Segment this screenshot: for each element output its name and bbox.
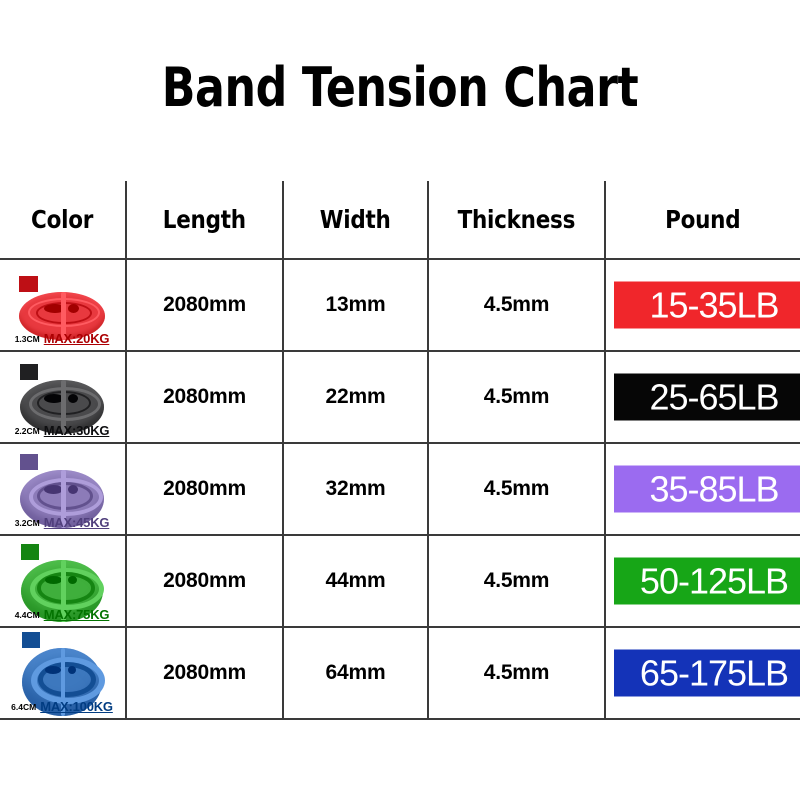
column-header-thickness: Thickness [428,181,605,259]
band-width-cell: 13mm [283,259,428,351]
page-title: Band Tension Chart [72,56,728,120]
table-row: 1.3CMMAX:20KG2080mm13mm4.5mm15-35LB [0,259,800,351]
band-length-cell-value: 2080mm [163,293,246,316]
band-max-kg: MAX:20KG [44,331,110,346]
band-coil-hole [68,666,76,674]
band-tail [22,632,40,648]
table-body: 1.3CMMAX:20KG2080mm13mm4.5mm15-35LB2.2CM… [0,259,800,719]
band-thickness-cell-value: 4.5mm [484,477,550,500]
table-row: 6.4CMMAX:100KG2080mm64mm4.5mm65-175LB [0,627,800,719]
band-thickness-cell: 4.5mm [428,443,605,535]
band-width-cell-value: 44mm [326,569,386,592]
band-coil-image-green [21,544,103,606]
column-header-color-label: Color [31,205,93,234]
band-illustration-wrap: 3.2CMMAX:45KG [0,444,124,534]
band-width-cell: 32mm [283,443,428,535]
band-width-cm: 4.4CM [15,610,40,620]
band-width-cell-value: 32mm [326,477,386,500]
band-length-cell: 2080mm [126,351,283,443]
band-pound-cell: 15-35LB [605,259,800,351]
band-caption: 2.2CMMAX:30KG [0,422,124,440]
band-color-cell: 1.3CMMAX:20KG [0,259,126,351]
table-row: 4.4CMMAX:75KG2080mm44mm4.5mm50-125LB [0,535,800,627]
band-coil-hole [68,576,77,584]
table-header-row: Color Length Width Thickness Pound [0,181,800,259]
band-caption: 4.4CMMAX:75KG [0,606,124,624]
pound-badge-red: 15-35LB [614,282,800,329]
band-coil-hole [68,485,78,494]
band-illustration-wrap: 2.2CMMAX:30KG [0,352,124,442]
band-illustration-wrap: 4.4CMMAX:75KG [0,536,124,626]
band-length-cell-value: 2080mm [163,661,246,684]
band-width-cell: 22mm [283,351,428,443]
pound-badge-green: 50-125LB [614,558,800,605]
band-coil-image-blue [22,632,102,700]
pound-badge-blue: 65-175LB [614,650,800,697]
band-length-cell: 2080mm [126,443,283,535]
band-width-cm: 6.4CM [11,702,36,712]
band-color-cell: 3.2CMMAX:45KG [0,443,126,535]
band-color-cell: 6.4CMMAX:100KG [0,627,126,719]
column-header-thickness-label: Thickness [458,205,576,234]
band-tail [20,364,38,380]
band-thickness-cell: 4.5mm [428,351,605,443]
band-width-cell-value: 22mm [326,385,386,408]
band-coil-image-purple [20,454,104,512]
pound-badge-black: 25-65LB [614,374,800,421]
band-max-kg: MAX:75KG [44,607,110,622]
band-illustration-wrap: 6.4CMMAX:100KG [0,628,124,718]
band-tail [19,276,38,292]
band-tail [20,454,38,470]
band-width-cell: 44mm [283,535,428,627]
band-coil-hole [68,394,78,403]
band-caption: 3.2CMMAX:45KG [0,514,124,532]
band-length-cell: 2080mm [126,627,283,719]
band-thickness-cell: 4.5mm [428,627,605,719]
band-pound-cell: 25-65LB [605,351,800,443]
band-caption: 1.3CMMAX:20KG [0,330,124,348]
band-color-cell: 2.2CMMAX:30KG [0,351,126,443]
band-illustration-wrap: 1.3CMMAX:20KG [0,260,124,350]
band-length-cell: 2080mm [126,535,283,627]
column-header-pound-label: Pound [665,205,740,234]
band-width-cm: 3.2CM [15,518,40,528]
band-pound-cell: 65-175LB [605,627,800,719]
band-thickness-cell: 4.5mm [428,259,605,351]
column-header-pound: Pound [605,181,800,259]
column-header-width-label: Width [320,205,391,234]
band-caption: 6.4CMMAX:100KG [0,698,124,716]
band-tension-table: Color Length Width Thickness Pound 1.3CM… [0,181,800,720]
band-pound-cell: 50-125LB [605,535,800,627]
band-length-cell: 2080mm [126,259,283,351]
band-thickness-cell-value: 4.5mm [484,661,550,684]
band-width-cell-value: 13mm [326,293,386,316]
column-header-color: Color [0,181,126,259]
band-coil-image-red [19,276,105,324]
column-header-width: Width [283,181,428,259]
band-max-kg: MAX:45KG [44,515,110,530]
band-length-cell-value: 2080mm [163,385,246,408]
band-length-cell-value: 2080mm [163,477,246,500]
band-width-cell-value: 64mm [326,661,386,684]
band-max-kg: MAX:100KG [40,699,113,714]
band-color-cell: 4.4CMMAX:75KG [0,535,126,627]
band-width-cm: 2.2CM [15,426,40,436]
band-pound-cell: 35-85LB [605,443,800,535]
column-header-length-label: Length [163,205,246,234]
band-thickness-cell-value: 4.5mm [484,569,550,592]
band-coil-hole [45,576,62,584]
band-width-cm: 1.3CM [15,334,40,344]
pound-badge-purple: 35-85LB [614,466,800,513]
band-coil-hole [45,666,61,674]
table-row: 3.2CMMAX:45KG2080mm32mm4.5mm35-85LB [0,443,800,535]
table-row: 2.2CMMAX:30KG2080mm22mm4.5mm25-65LB [0,351,800,443]
column-header-length: Length [126,181,283,259]
band-width-cell: 64mm [283,627,428,719]
band-max-kg: MAX:30KG [44,423,110,438]
band-length-cell-value: 2080mm [163,569,246,592]
band-thickness-cell-value: 4.5mm [484,385,550,408]
band-thickness-cell-value: 4.5mm [484,293,550,316]
band-coil-image-black [20,364,104,418]
band-thickness-cell: 4.5mm [428,535,605,627]
band-tail [21,544,39,560]
